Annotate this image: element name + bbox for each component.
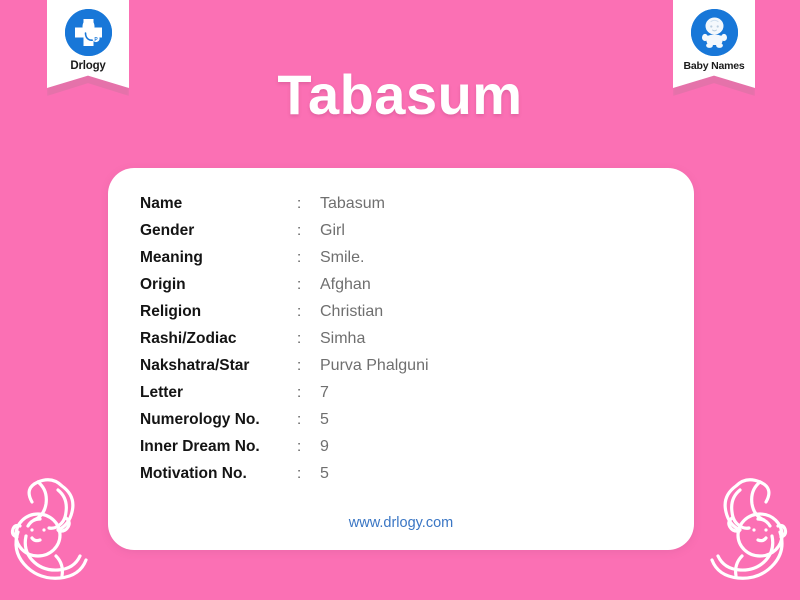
row-value: 5 <box>320 460 429 487</box>
table-row: Nakshatra/Star : Purva Phalguni <box>140 352 429 379</box>
row-value: 7 <box>320 379 429 406</box>
table-row: Origin : Afghan <box>140 271 429 298</box>
name-details-table: Name : Tabasum Gender : Girl Meaning : S… <box>140 190 429 487</box>
table-row: Religion : Christian <box>140 298 429 325</box>
drlogy-doctor-cross-icon: P <box>65 9 112 56</box>
row-separator: : <box>297 325 320 352</box>
row-label: Gender <box>140 217 297 244</box>
row-separator: : <box>297 433 320 460</box>
row-separator: : <box>297 406 320 433</box>
row-value: Tabasum <box>320 190 429 217</box>
row-separator: : <box>297 190 320 217</box>
row-separator: : <box>297 352 320 379</box>
row-value: Smile. <box>320 244 429 271</box>
table-row: Motivation No. : 5 <box>140 460 429 487</box>
mother-and-baby-icon <box>698 472 800 598</box>
row-value: Afghan <box>320 271 429 298</box>
row-value: 5 <box>320 406 429 433</box>
page-title: Tabasum <box>0 62 800 127</box>
row-label: Religion <box>140 298 297 325</box>
row-label: Nakshatra/Star <box>140 352 297 379</box>
mother-and-baby-icon <box>0 472 100 598</box>
table-row: Gender : Girl <box>140 217 429 244</box>
row-label: Letter <box>140 379 297 406</box>
table-row: Meaning : Smile. <box>140 244 429 271</box>
row-value: Simha <box>320 325 429 352</box>
row-value: Girl <box>320 217 429 244</box>
baby-icon <box>691 9 738 56</box>
row-separator: : <box>297 298 320 325</box>
details-table-body: Name : Tabasum Gender : Girl Meaning : S… <box>140 190 429 487</box>
row-separator: : <box>297 244 320 271</box>
table-row: Inner Dream No. : 9 <box>140 433 429 460</box>
row-label: Numerology No. <box>140 406 297 433</box>
table-row: Letter : 7 <box>140 379 429 406</box>
row-label: Rashi/Zodiac <box>140 325 297 352</box>
row-separator: : <box>297 460 320 487</box>
row-value: 9 <box>320 433 429 460</box>
row-value: Purva Phalguni <box>320 352 429 379</box>
row-separator: : <box>297 271 320 298</box>
row-label: Meaning <box>140 244 297 271</box>
row-separator: : <box>297 379 320 406</box>
name-details-card: Name : Tabasum Gender : Girl Meaning : S… <box>108 168 694 550</box>
row-label: Name <box>140 190 297 217</box>
row-label: Origin <box>140 271 297 298</box>
row-label: Inner Dream No. <box>140 433 297 460</box>
website-url[interactable]: www.drlogy.com <box>108 515 694 531</box>
row-label: Motivation No. <box>140 460 297 487</box>
row-separator: : <box>297 217 320 244</box>
table-row: Numerology No. : 5 <box>140 406 429 433</box>
row-value: Christian <box>320 298 429 325</box>
table-row: Rashi/Zodiac : Simha <box>140 325 429 352</box>
table-row: Name : Tabasum <box>140 190 429 217</box>
